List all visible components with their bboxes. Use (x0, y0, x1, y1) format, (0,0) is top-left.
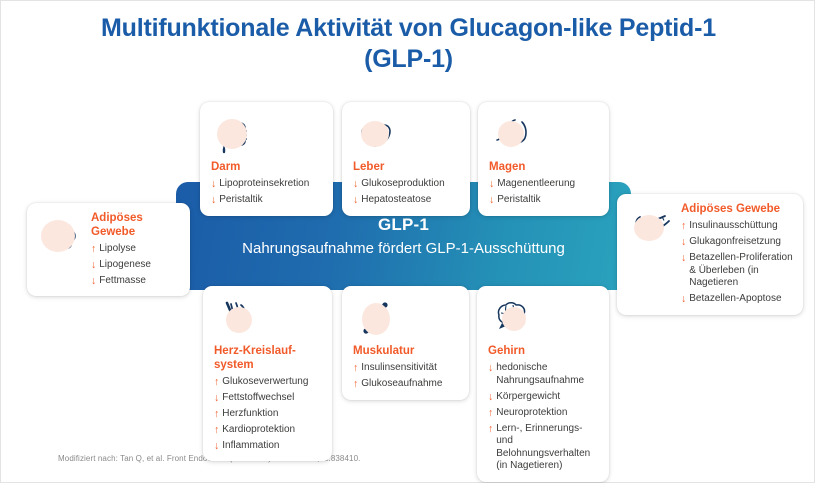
list-item: ↑Kardioprotektion (214, 424, 322, 437)
fat-tissue-icon (38, 214, 84, 260)
glp1-banner-title: GLP-1 (378, 215, 429, 235)
arrow-icon: ↑ (91, 243, 96, 256)
list-item-label: Neuroprotektion (496, 407, 599, 420)
page-title-line-2: (GLP-1) (1, 44, 815, 75)
card-item-list: ↑Insulinausschüttung ↓Glukagonfreisetzun… (681, 220, 793, 306)
card-adipoeses-gewebe-links: Adipöses Gewebe ↑Lipolyse ↓Lipogenese ↓F… (27, 203, 190, 296)
arrow-icon: ↑ (214, 408, 219, 421)
card-title: Darm (211, 161, 323, 175)
list-item: ↑Glukoseaufnahme (353, 378, 459, 391)
list-item: ↓Peristaltik (489, 194, 599, 207)
card-title: Adipöses Gewebe (681, 203, 793, 217)
list-item: ↑Glukoseverwertung (214, 376, 322, 389)
intestine-icon (211, 111, 257, 157)
stomach-icon (489, 111, 535, 157)
arrow-icon: ↓ (211, 194, 216, 207)
list-item: ↑Lipolyse (91, 243, 180, 256)
glp1-banner-subtitle: Nahrungsaufnahme fördert GLP-1-Ausschütt… (242, 240, 565, 257)
list-item: ↓Hepatosteatose (353, 194, 460, 207)
arrow-icon: ↓ (489, 194, 494, 207)
list-item: ↑Lern-, Erinnerungs- und Belohnungsverha… (488, 423, 599, 473)
arrow-icon: ↑ (681, 220, 686, 233)
arrow-icon: ↓ (353, 194, 358, 207)
arrow-icon: ↓ (681, 252, 686, 265)
list-item: ↑Insulinsensitivität (353, 362, 459, 375)
list-item-label: Glukoseproduktion (361, 178, 460, 191)
arrow-icon: ↓ (214, 440, 219, 453)
list-item: ↓Fettstoffwechsel (214, 392, 322, 405)
list-item-label: Peristaltik (497, 194, 599, 207)
page-title-line-1: Multifunktionale Aktivität von Glucagon-… (1, 13, 815, 44)
arrow-icon: ↑ (353, 378, 358, 391)
arrow-icon: ↑ (353, 362, 358, 375)
list-item-label: Betazellen-Apoptose (689, 293, 793, 306)
list-item: ↓Lipoproteinsekretion (211, 178, 323, 191)
card-title: Gehirn (488, 345, 599, 359)
card-title: Herz-Kreislauf-system (214, 345, 322, 372)
card-title: Muskulatur (353, 345, 459, 359)
list-item-label: Körpergewicht (496, 391, 599, 404)
arrow-icon: ↓ (681, 236, 686, 249)
list-item: ↓Glukoseproduktion (353, 178, 460, 191)
arrow-icon: ↓ (91, 275, 96, 288)
card-title: Leber (353, 161, 460, 175)
list-item: ↓Betazellen-Proliferation & Überleben (i… (681, 252, 793, 290)
arrow-icon: ↓ (681, 293, 686, 306)
list-item: ↓hedonische Nahrungsaufnahme (488, 362, 599, 387)
card-herz-kreislaufsystem: Herz-Kreislauf-system ↑Glukoseverwertung… (203, 286, 332, 461)
arrow-icon: ↑ (214, 376, 219, 389)
list-item-label: Insulinsensitivität (361, 362, 459, 375)
arrow-icon: ↓ (353, 178, 358, 191)
heart-icon (214, 295, 260, 341)
liver-icon (353, 111, 399, 157)
list-item: ↓Körpergewicht (488, 391, 599, 404)
list-item-label: Magenentleerung (497, 178, 599, 191)
arrow-icon: ↑ (488, 407, 493, 420)
card-muskulatur: Muskulatur ↑Insulinsensitivität ↑Glukose… (342, 286, 469, 400)
arrow-icon: ↓ (214, 392, 219, 405)
list-item: ↓Lipogenese (91, 259, 180, 272)
arrow-icon: ↓ (91, 259, 96, 272)
card-item-list: ↓Glukoseproduktion ↓Hepatosteatose (353, 178, 460, 207)
list-item: ↓Betazellen-Apoptose (681, 293, 793, 306)
list-item-label: Inflammation (222, 440, 322, 453)
list-item: ↓Inflammation (214, 440, 322, 453)
list-item-label: Glukoseaufnahme (361, 378, 459, 391)
list-item: ↓Magenentleerung (489, 178, 599, 191)
arrow-icon: ↓ (489, 178, 494, 191)
card-title: Adipöses Gewebe (91, 212, 180, 239)
list-item-label: Peristaltik (219, 194, 323, 207)
card-item-list: ↓Lipoproteinsekretion ↓Peristaltik (211, 178, 323, 207)
list-item-label: Lipogenese (99, 259, 180, 272)
card-leber: Leber ↓Glukoseproduktion ↓Hepatosteatose (342, 102, 470, 216)
card-body: Adipöses Gewebe ↑Lipolyse ↓Lipogenese ↓F… (91, 212, 180, 287)
card-title: Magen (489, 161, 599, 175)
arrow-icon: ↓ (211, 178, 216, 191)
card-darm: Darm ↓Lipoproteinsekretion ↓Peristaltik (200, 102, 333, 216)
list-item: ↑Neuroprotektion (488, 407, 599, 420)
arrow-icon: ↑ (214, 424, 219, 437)
list-item-label: Fettmasse (99, 275, 180, 288)
list-item-label: Lern-, Erinnerungs- und Belohnungsverhal… (496, 423, 599, 473)
list-item-label: Herzfunktion (222, 408, 322, 421)
list-item-label: Betazellen-Proliferation & Überleben (in… (689, 252, 793, 290)
list-item-label: Glukoseverwertung (222, 376, 322, 389)
card-magen: Magen ↓Magenentleerung ↓Peristaltik (478, 102, 609, 216)
list-item: ↓Fettmasse (91, 275, 180, 288)
list-item-label: Kardioprotektion (222, 424, 322, 437)
list-item-label: Insulinausschüttung (689, 220, 793, 233)
list-item-label: Fettstoffwechsel (222, 392, 322, 405)
infographic-frame: Multifunktionale Aktivität von Glucagon-… (0, 0, 815, 483)
arrow-icon: ↓ (488, 391, 493, 404)
arrow-icon: ↑ (488, 423, 493, 436)
card-item-list: ↑Insulinsensitivität ↑Glukoseaufnahme (353, 362, 459, 391)
card-item-list: ↑Glukoseverwertung ↓Fettstoffwechsel ↑He… (214, 376, 322, 453)
card-item-list: ↓Magenentleerung ↓Peristaltik (489, 178, 599, 207)
list-item: ↑Herzfunktion (214, 408, 322, 421)
list-item: ↑Insulinausschüttung (681, 220, 793, 233)
list-item: ↓Peristaltik (211, 194, 323, 207)
card-item-list: ↓hedonische Nahrungsaufnahme ↓Körpergewi… (488, 362, 599, 473)
brain-icon (488, 295, 534, 341)
list-item-label: Lipolyse (99, 243, 180, 256)
list-item-label: Hepatosteatose (361, 194, 460, 207)
card-item-list: ↑Lipolyse ↓Lipogenese ↓Fettmasse (91, 243, 180, 288)
card-gehirn: Gehirn ↓hedonische Nahrungsaufnahme ↓Kör… (477, 286, 609, 482)
muscle-icon (353, 295, 399, 341)
list-item-label: Glukagonfreisetzung (689, 236, 793, 249)
list-item: ↓Glukagonfreisetzung (681, 236, 793, 249)
arrow-icon: ↓ (488, 362, 493, 375)
page-title: Multifunktionale Aktivität von Glucagon-… (1, 13, 815, 75)
pancreas-icon (628, 205, 674, 251)
list-item-label: hedonische Nahrungsaufnahme (496, 362, 599, 387)
list-item-label: Lipoproteinsekretion (219, 178, 323, 191)
card-adipoeses-gewebe-rechts: Adipöses Gewebe ↑Insulinausschüttung ↓Gl… (617, 194, 803, 315)
card-body: Adipöses Gewebe ↑Insulinausschüttung ↓Gl… (681, 203, 793, 306)
